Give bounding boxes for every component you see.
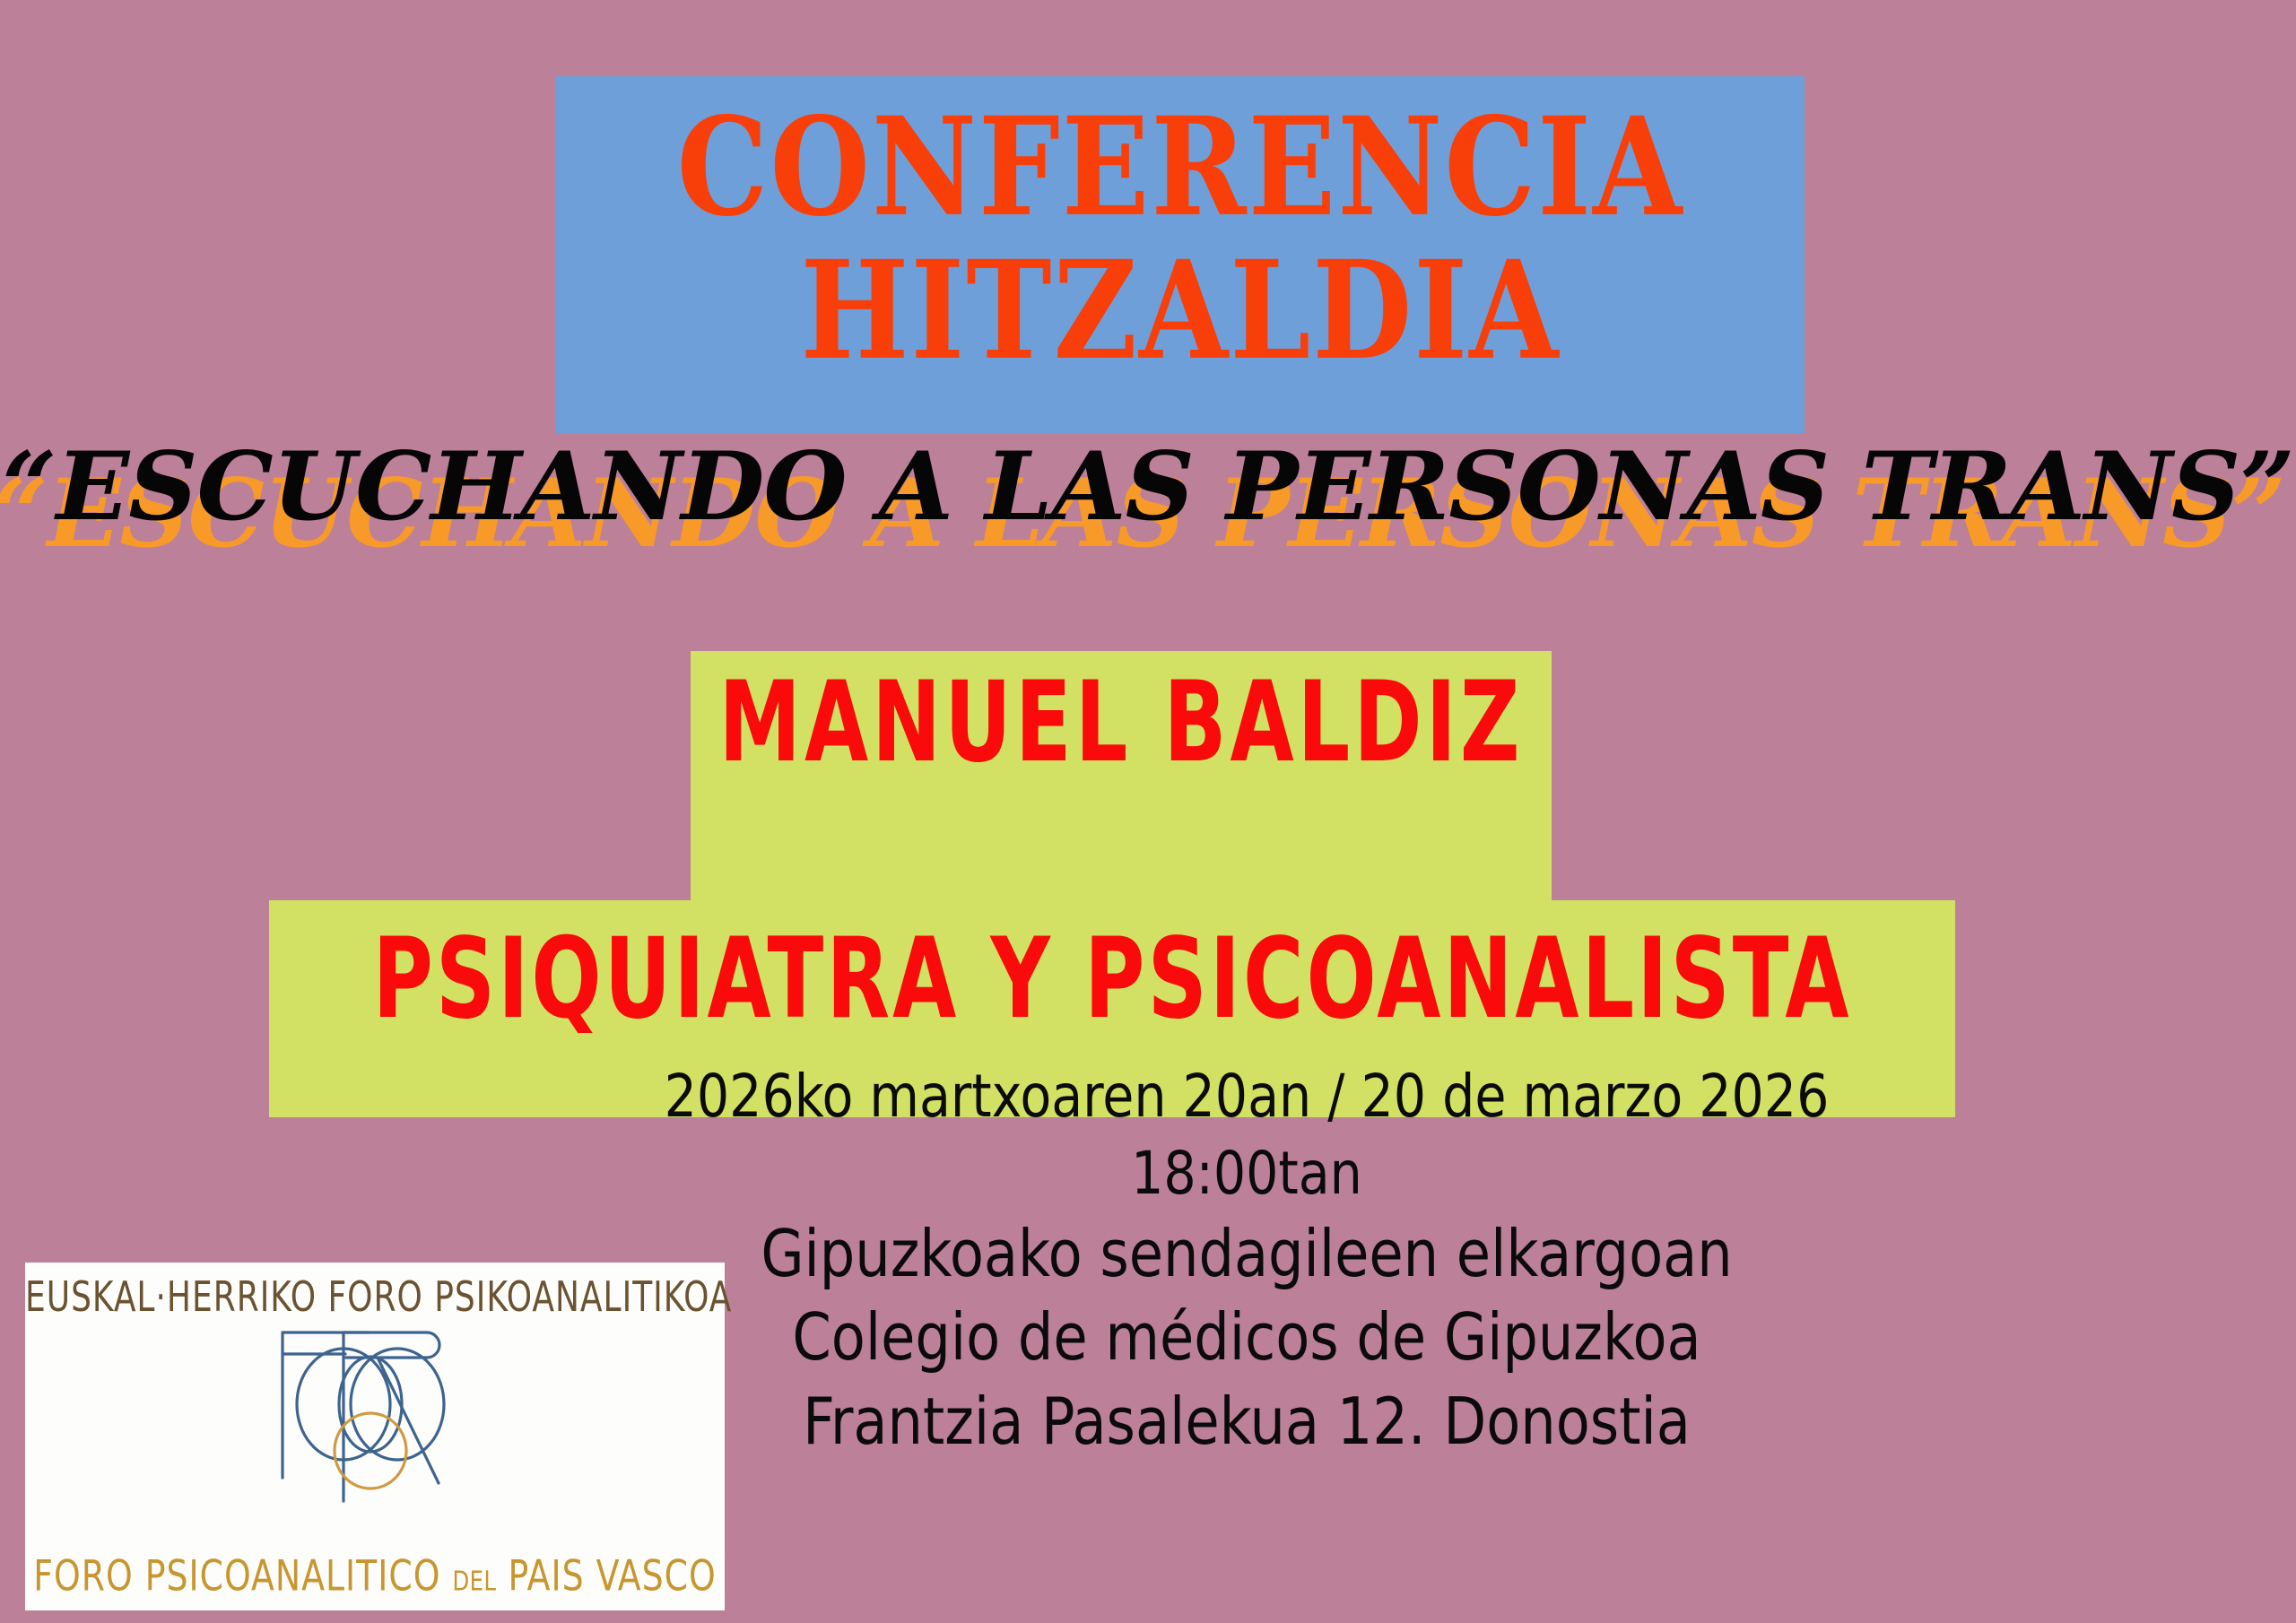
event-venue-basque: Gipuzkoako sendagileen elkargoan [515,1212,1979,1297]
logo-top-text: EUSKAL·HERRIKO FORO PSIKOANALITIKOA [25,1274,725,1322]
logo-bottom-text-part2: PAIS VASCO [497,1551,717,1601]
subtitle-text: “ESCUCHANDO A LAS PERSONAS TRANS” [0,437,2296,535]
poster-canvas: CONFERENCIA HITZALDIA “ESCUCHANDO A LAS … [0,0,2296,1623]
event-date: 2026ko martxoaren 20an / 20 de marzo 202… [515,1058,1979,1135]
event-venue-spanish: Colegio de médicos de Gipuzkoa [515,1296,1979,1380]
logo-bottom-text-del: DEL [452,1567,496,1598]
fp-monogram-logo-icon [263,1325,487,1536]
event-details: 2026ko martxoaren 20an / 20 de marzo 202… [515,1058,1979,1463]
subtitle-block: “ESCUCHANDO A LAS PERSONAS TRANS” “ESCUC… [0,437,2296,562]
logo-bottom-text: FORO PSICOANALITICO DEL PAIS VASCO [25,1551,725,1601]
speaker-role-text: PSIQUIATRA Y PSICOANALISTA [269,924,1955,1035]
title-line-hitzaldia: HITZALDIA [556,243,1805,378]
event-time: 18:00tan [515,1135,1979,1212]
logo-bottom-text-part1: FORO PSICOANALITICO [33,1551,452,1601]
speaker-name-text: MANUEL BALDIZ [691,667,1552,778]
title-banner: CONFERENCIA HITZALDIA [556,76,1805,433]
title-line-conferencia: CONFERENCIA [556,100,1805,235]
organization-logo-card: EUSKAL·HERRIKO FORO PSIKOANALITIKOA [25,1263,725,1610]
event-address: Frantzia Pasalekua 12. Donostia [515,1380,1979,1464]
